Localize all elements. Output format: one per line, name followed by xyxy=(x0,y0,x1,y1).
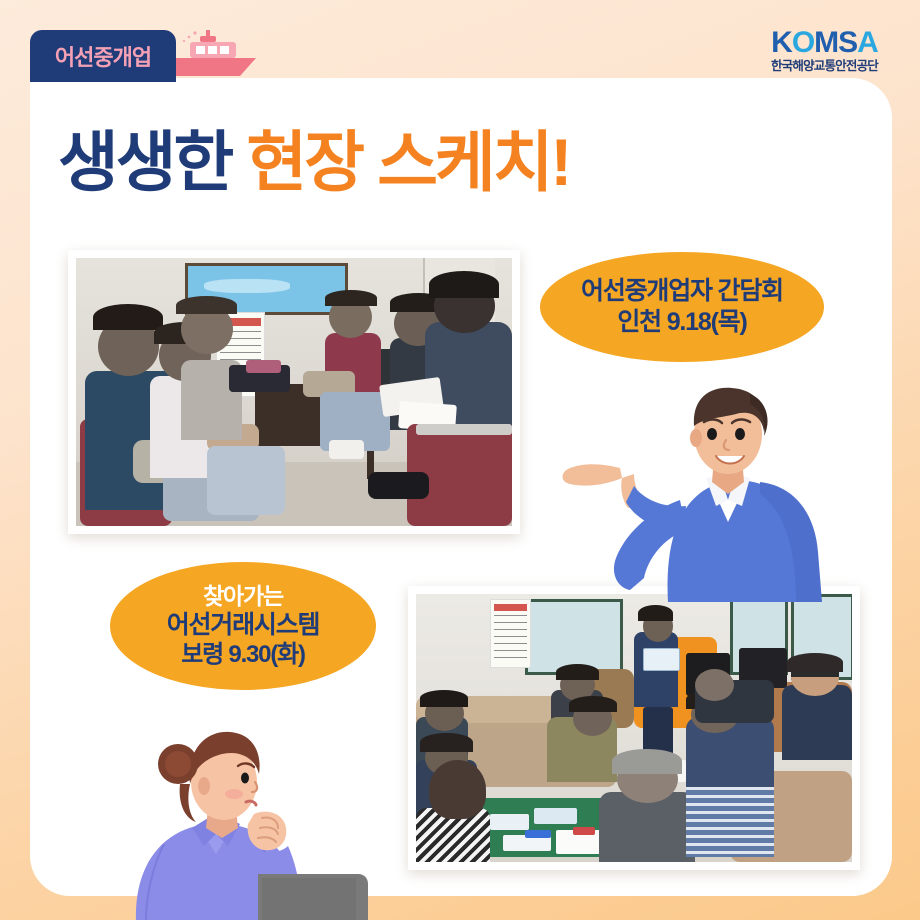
promo-card-root: 어선중개업 KOMSA 한국해양교통안전공단 생생한 현장 스케치! xyxy=(0,0,920,920)
bubble-boryeong-line3: 보령 9.30(화) xyxy=(181,641,305,669)
komsa-wordmark: KOMSA xyxy=(771,28,878,58)
photo-boryeong-image xyxy=(416,594,852,862)
page-title-part-orange: 현장 스케치! xyxy=(247,125,570,199)
bubble-incheon-line2: 인천 9.18(목) xyxy=(617,308,746,338)
komsa-letter-o: O xyxy=(792,26,814,59)
komsa-subtitle: 한국해양교통안전공단 xyxy=(771,60,878,73)
photo-incheon-image xyxy=(76,258,512,526)
speech-bubble-incheon: 어선중개업자 간담회 인천 9.18(목) xyxy=(540,252,824,362)
page-title: 생생한 현장 스케치! xyxy=(58,126,569,199)
photo-incheon-meeting xyxy=(68,250,520,534)
illustration-man-presenting xyxy=(560,382,890,602)
illustration-woman-thinking xyxy=(112,722,402,920)
boat-icon xyxy=(168,28,264,80)
komsa-letter-m: M xyxy=(814,26,838,59)
page-title-part-navy: 생생한 xyxy=(58,125,247,199)
bubble-incheon-line1: 어선중개업자 간담회 xyxy=(581,277,783,307)
komsa-letter-s: S xyxy=(838,26,857,59)
category-tab-label: 어선중개업 xyxy=(55,40,151,72)
speech-bubble-boryeong: 찾아가는 어선거래시스템 보령 9.30(화) xyxy=(110,562,376,690)
bubble-boryeong-line1: 찾아가는 xyxy=(203,583,283,610)
bubble-boryeong-line2: 어선거래시스템 xyxy=(167,611,320,641)
komsa-letter-k: K xyxy=(771,26,792,59)
komsa-logo: KOMSA 한국해양교통안전공단 xyxy=(771,28,878,73)
category-tab[interactable]: 어선중개업 xyxy=(30,30,176,82)
komsa-letter-a: A xyxy=(857,26,878,59)
photo-boryeong-meeting xyxy=(408,586,860,870)
